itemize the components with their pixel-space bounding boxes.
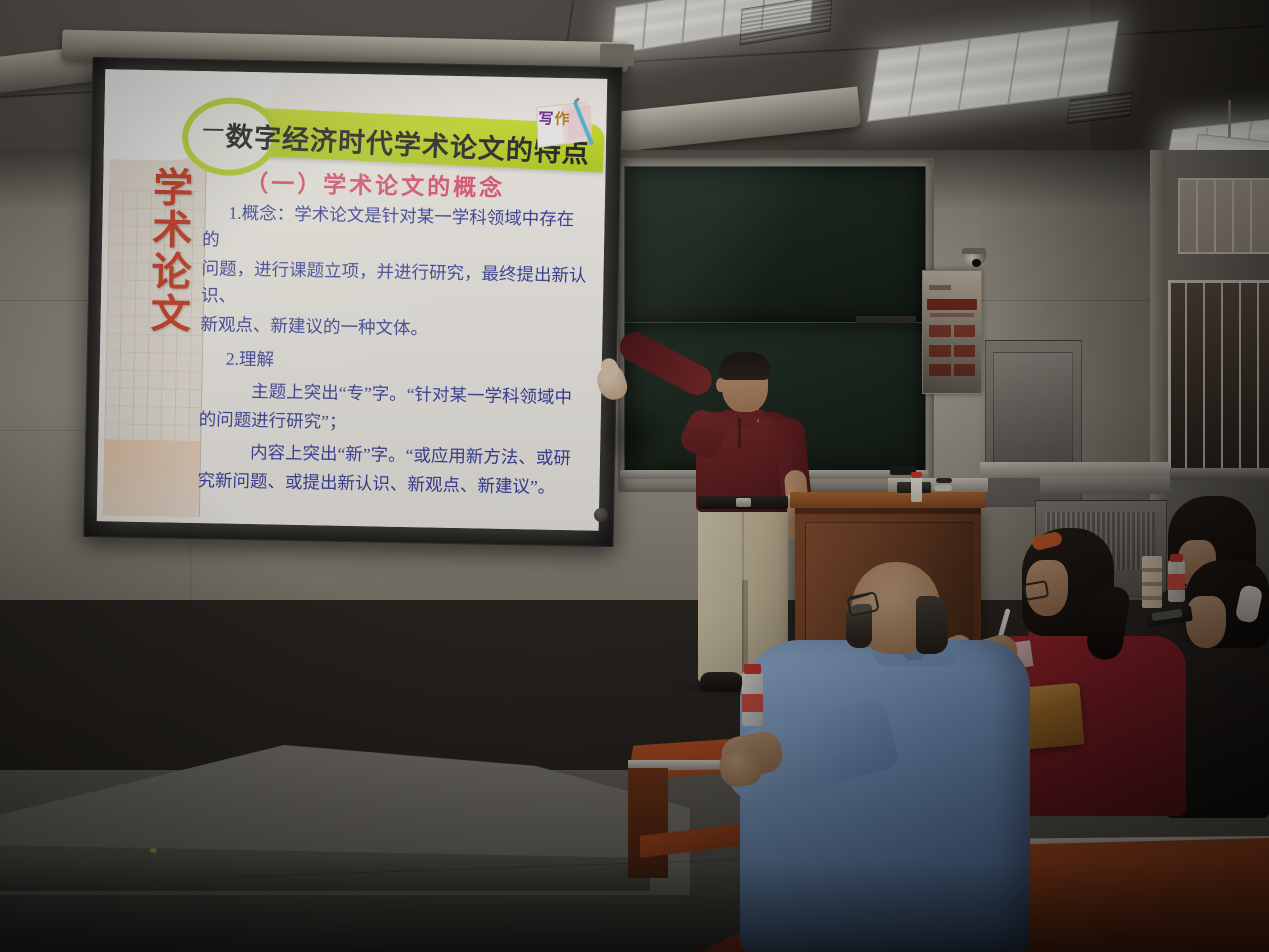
polo-placket xyxy=(738,418,741,448)
pendant-rod xyxy=(1228,100,1231,142)
blackboard-track xyxy=(856,316,916,323)
wall-poster xyxy=(922,270,982,394)
bottle-label xyxy=(1168,574,1185,590)
laser-pointer-dot xyxy=(150,848,157,853)
lectern-lip xyxy=(795,508,981,514)
bottle-label xyxy=(742,694,763,712)
security-camera-lens xyxy=(972,259,981,267)
projection-screen[interactable]: 学术论文 一、 数字经济时代学术论文的特点 写 作 （一）学术论文的概念 1.概… xyxy=(97,69,608,531)
slide-subtitle: （一）学术论文的概念 xyxy=(245,164,576,204)
blackboard-glare xyxy=(624,166,924,322)
bottle-cap xyxy=(911,472,922,478)
marker-pen-icon[interactable] xyxy=(934,485,952,491)
desk-side-panel xyxy=(628,768,668,878)
slide-body-line: 2.理解 xyxy=(200,345,586,379)
window-frame xyxy=(1168,280,1269,476)
belt-buckle xyxy=(736,498,751,507)
slide-body-line: 问题，进行课题立项，并进行研究，最终提出新认识、 xyxy=(201,255,588,316)
water-bottle-icon[interactable] xyxy=(911,476,922,502)
attendee-hair xyxy=(916,596,948,654)
drink-cup-icon[interactable] xyxy=(1142,556,1162,608)
lectern-top xyxy=(790,492,986,508)
presenter-ear xyxy=(716,378,725,392)
slide-body-line: 究新问题、或提出新认识、新观点、新建议”。 xyxy=(197,467,583,501)
svg-text:写: 写 xyxy=(538,111,553,128)
presentation-slide: 学术论文 一、 数字经济时代学术论文的特点 写 作 （一）学术论文的概念 1.概… xyxy=(97,69,608,531)
writing-flag-icon: 写 作 xyxy=(530,93,601,160)
slide-body-line: 新观点、新建议的一种文体。 xyxy=(200,311,586,345)
marker-pen-icon[interactable] xyxy=(936,478,952,483)
screen-housing-end xyxy=(600,44,634,67)
counter-top xyxy=(1040,476,1170,494)
slide-vertical-banner: 学术论文 xyxy=(124,166,189,335)
poster-shading xyxy=(923,271,981,393)
floor-seam xyxy=(0,912,700,913)
slide-body-line: 的问题进行研究”； xyxy=(198,406,584,440)
bottle-cap xyxy=(744,664,761,674)
svg-text:作: 作 xyxy=(554,110,569,128)
slide-decor-block xyxy=(103,439,200,517)
classroom-photo: 学术论文 一、 数字经济时代学术论文的特点 写 作 （一）学术论文的概念 1.概… xyxy=(0,0,1269,952)
attendee-face xyxy=(1186,596,1226,648)
slide-body-line: 内容上突出“新”字。“或应用新方法、或研 xyxy=(198,438,584,472)
window-sill xyxy=(1160,468,1269,480)
cabinet-door[interactable] xyxy=(993,352,1073,474)
window-upper xyxy=(1178,178,1269,254)
slide-body: 1.概念：学术论文是针对某一学科领域中存在的 问题，进行课题立项，并进行研究，最… xyxy=(197,199,589,504)
presenter-shoe xyxy=(700,672,744,692)
attendee-torso xyxy=(740,640,1030,952)
slide-body-line: 1.概念：学术论文是针对某一学科领域中存在的 xyxy=(202,199,589,260)
bottle-cap xyxy=(1170,554,1183,562)
presenter-hair xyxy=(719,352,771,380)
slide-body-line: 主题上突出“专”字。“针对某一学科领域中 xyxy=(199,377,585,411)
